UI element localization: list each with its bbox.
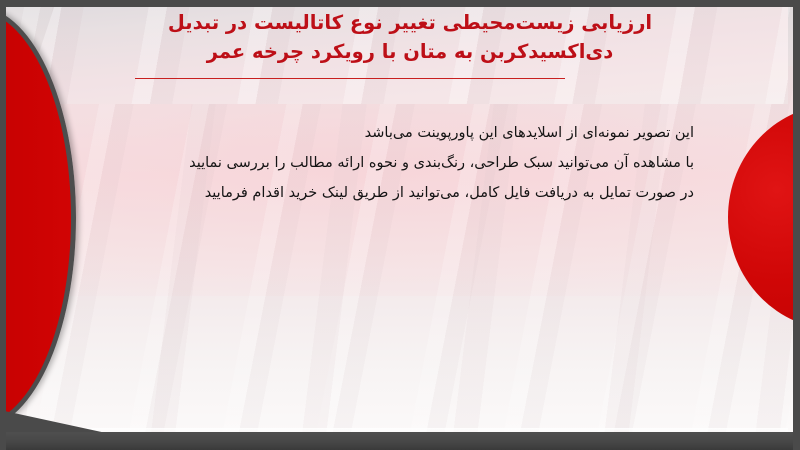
bottom-frame-bar [0,432,800,450]
slide-title-line-2: دی‌اکسیدکربن به متان با رویکرد چرخه عمر [60,37,760,66]
slide-body-line-1: این تصویر نمونه‌ای از اسلایدهای این پاور… [134,118,694,148]
slide-body: این تصویر نمونه‌ای از اسلایدهای این پاور… [134,118,694,208]
slide-body-line-2: با مشاهده آن می‌توانید سبک طراحی، رنگ‌بن… [134,148,694,178]
top-frame-bar [0,0,800,7]
presentation-slide: ارزیابی زیست‌محیطی تغییر نوع کاتالیست در… [0,0,800,450]
slide-title: ارزیابی زیست‌محیطی تغییر نوع کاتالیست در… [60,8,760,66]
slide-title-line-1: ارزیابی زیست‌محیطی تغییر نوع کاتالیست در… [60,8,760,37]
right-frame-bar [793,0,800,450]
title-underline [135,78,565,79]
left-frame-bar [0,0,6,450]
slide-body-line-3: در صورت تمایل به دریافت فایل کامل، می‌تو… [134,178,694,208]
